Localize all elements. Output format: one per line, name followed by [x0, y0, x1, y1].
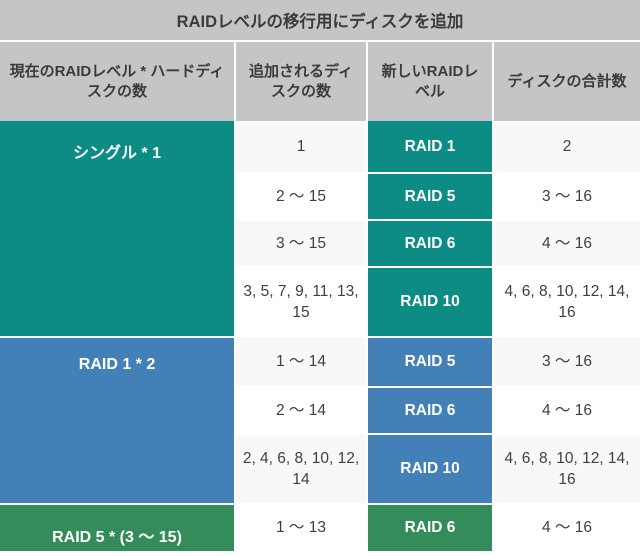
current-raid-level-label: シングル * 1: [73, 139, 161, 163]
disks-added-cell: 3, 5, 7, 9, 11, 13, 15: [236, 268, 368, 336]
new-raid-level-cell: RAID 6: [368, 221, 494, 266]
new-raid-level-cell: RAID 10: [368, 268, 494, 336]
table-row: 2 ～ 14RAID 64 ～ 16: [236, 386, 640, 433]
total-disks-cell: 4 ～ 16: [494, 505, 640, 551]
disks-added-cell: 2, 4, 6, 8, 10, 12, 14: [236, 435, 368, 503]
table-title: RAIDレベルの移行用にディスクを追加: [0, 0, 640, 42]
current-raid-level-cell: RAID 5 * (3 ～ 15): [0, 505, 236, 551]
table-column-header-row: 現在のRAIDレベル * ハードディスクの数 追加されるディスクの数 新しいRA…: [0, 42, 640, 121]
disks-added-cell: 2 ～ 15: [236, 174, 368, 219]
table-body: シングル * 11RAID 122 ～ 15RAID 53 ～ 163 ～ 15…: [0, 121, 640, 556]
new-raid-level-cell: RAID 10: [368, 435, 494, 503]
raid-group: RAID 1 * 21 ～ 14RAID 53 ～ 162 ～ 14RAID 6…: [0, 336, 640, 503]
disks-added-cell: 1 ～ 13: [236, 505, 368, 551]
new-raid-level-cell: RAID 6: [368, 388, 494, 433]
table-row: 3, 5, 7, 9, 11, 13, 15RAID 104, 6, 8, 10…: [236, 266, 640, 336]
table-row: 1 ～ 13RAID 64 ～ 16: [236, 505, 640, 551]
table-row: 2, 4, 6, 8, 10, 12, 14RAID 104, 6, 8, 10…: [236, 433, 640, 503]
current-raid-level-label: RAID 5 * (3 ～ 15): [52, 523, 182, 547]
new-raid-level-cell: RAID 6: [368, 505, 494, 551]
total-disks-cell: 4 ～ 16: [494, 221, 640, 266]
table-row: 2 ～ 15RAID 53 ～ 16: [236, 172, 640, 219]
current-raid-level-cell: シングル * 1: [0, 121, 236, 336]
raid-group: RAID 5 * (3 ～ 15)1 ～ 13RAID 64 ～ 16: [0, 503, 640, 551]
total-disks-cell: 2: [494, 121, 640, 172]
total-disks-cell: 3 ～ 16: [494, 174, 640, 219]
raid-migration-table: RAIDレベルの移行用にディスクを追加 現在のRAIDレベル * ハードディスク…: [0, 0, 640, 556]
disks-added-cell: 3 ～ 15: [236, 221, 368, 266]
disks-added-cell: 1: [236, 121, 368, 172]
new-raid-level-cell: RAID 1: [368, 121, 494, 172]
new-raid-level-cell: RAID 5: [368, 338, 494, 386]
raid-group: シングル * 11RAID 122 ～ 15RAID 53 ～ 163 ～ 15…: [0, 121, 640, 336]
disks-added-cell: 1 ～ 14: [236, 338, 368, 386]
total-disks-cell: 3 ～ 16: [494, 338, 640, 386]
table-row: 1 ～ 14RAID 53 ～ 16: [236, 338, 640, 386]
total-disks-cell: 4, 6, 8, 10, 12, 14, 16: [494, 435, 640, 503]
column-header-total-disks: ディスクの合計数: [494, 42, 640, 121]
disks-added-cell: 2 ～ 14: [236, 388, 368, 433]
column-header-current-raid-level: 現在のRAIDレベル * ハードディスクの数: [0, 42, 236, 121]
table-row: 3 ～ 15RAID 64 ～ 16: [236, 219, 640, 266]
table-row: 1RAID 12: [236, 121, 640, 172]
column-header-new-raid-level: 新しいRAIDレベル: [368, 42, 494, 121]
total-disks-cell: 4 ～ 16: [494, 388, 640, 433]
current-raid-level-label: RAID 1 * 2: [79, 356, 155, 374]
total-disks-cell: 4, 6, 8, 10, 12, 14, 16: [494, 268, 640, 336]
column-header-disks-added: 追加されるディスクの数: [236, 42, 368, 121]
current-raid-level-cell: RAID 1 * 2: [0, 338, 236, 503]
new-raid-level-cell: RAID 5: [368, 174, 494, 219]
